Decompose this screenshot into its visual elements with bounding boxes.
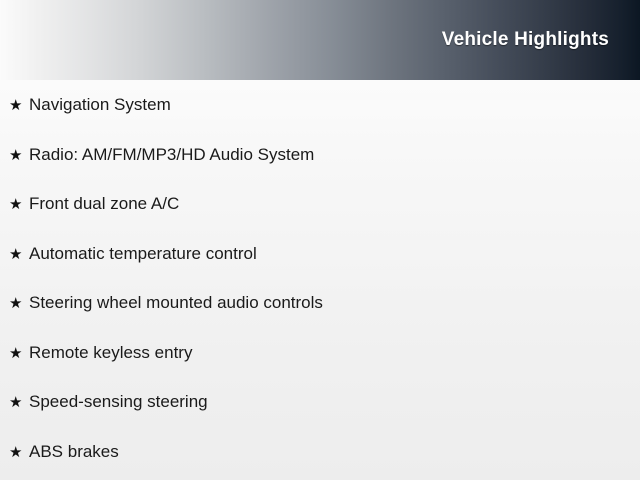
highlight-label: Remote keyless entry xyxy=(29,328,192,378)
highlight-label: Automatic temperature control xyxy=(29,229,257,279)
header-banner: Vehicle Highlights xyxy=(0,0,640,80)
list-item: ★Automatic temperature control xyxy=(0,229,640,279)
star-bullet-icon: ★ xyxy=(9,131,29,181)
highlight-label: ABS brakes xyxy=(29,427,119,477)
highlight-label: Speed-sensing steering xyxy=(29,377,208,427)
list-item: ★Radio: AM/FM/MP3/HD Audio System xyxy=(0,130,640,180)
star-bullet-icon: ★ xyxy=(9,378,29,428)
list-item: ★ABS brakes xyxy=(0,427,640,477)
highlight-label: Steering wheel mounted audio controls xyxy=(29,278,323,328)
star-bullet-icon: ★ xyxy=(9,81,29,131)
star-bullet-icon: ★ xyxy=(9,180,29,230)
star-bullet-icon: ★ xyxy=(9,230,29,280)
list-item: ★Steering wheel mounted audio controls xyxy=(0,278,640,328)
highlight-label: Front dual zone A/C xyxy=(29,179,179,229)
star-bullet-icon: ★ xyxy=(9,329,29,379)
star-bullet-icon: ★ xyxy=(9,428,29,478)
list-item: ★Speed-sensing steering xyxy=(0,377,640,427)
list-item: ★Front dual zone A/C xyxy=(0,179,640,229)
vehicle-highlights-slide: Vehicle Highlights ★Navigation System ★R… xyxy=(0,0,640,480)
star-bullet-icon: ★ xyxy=(9,279,29,329)
vehicle-highlights-list: ★Navigation System ★Radio: AM/FM/MP3/HD … xyxy=(0,80,640,476)
page-title: Vehicle Highlights xyxy=(442,29,609,51)
list-item: ★Navigation System xyxy=(0,80,640,130)
highlight-label: Radio: AM/FM/MP3/HD Audio System xyxy=(29,130,314,180)
highlight-label: Navigation System xyxy=(29,80,171,130)
list-item: ★Remote keyless entry xyxy=(0,328,640,378)
